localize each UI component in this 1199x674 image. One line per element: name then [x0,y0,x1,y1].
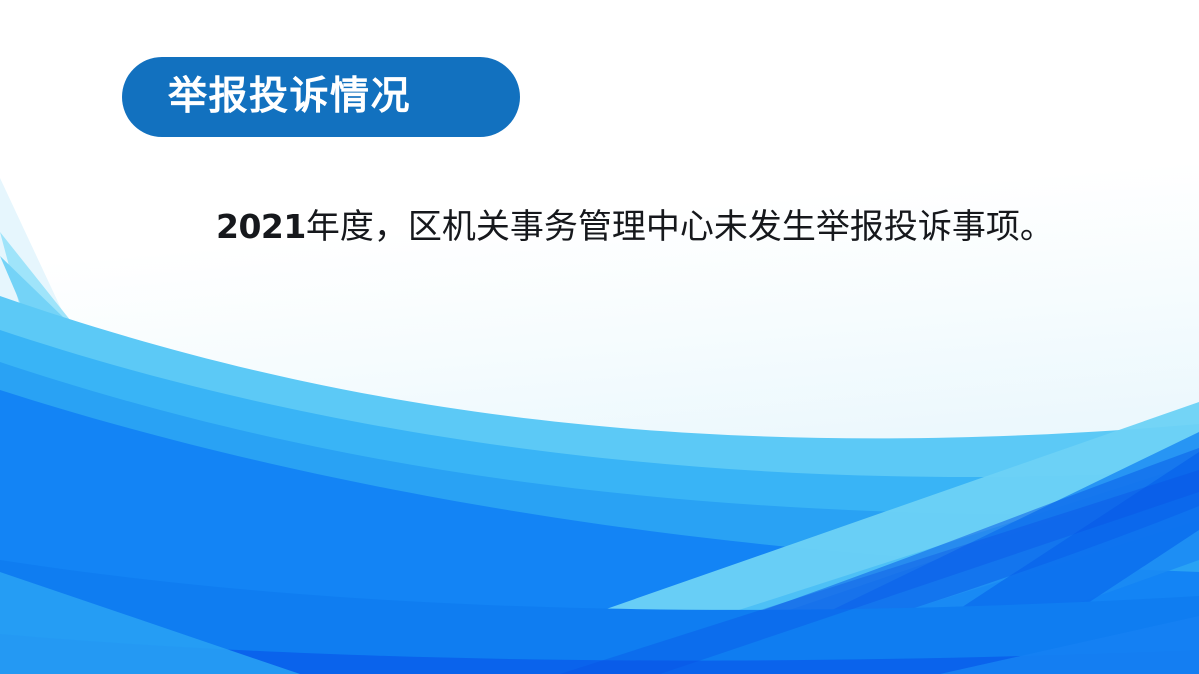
wave-bottom-left-accent [0,572,300,674]
wave-blue-base [0,634,1199,674]
wave-sky-lightest [0,232,352,674]
wave-blue-deep-diagonal [860,452,1199,674]
wave-blue-lower-sheet [0,560,1199,674]
wave-bottom-sliver [560,470,1199,674]
body-paragraph: 2021年度，区机关事务管理中心未发生举报投诉事项。 [216,203,1146,251]
wave-azure-main [0,362,1199,674]
wave-sky-wash [0,178,232,674]
slide-canvas: 举报投诉情况 2021年度，区机关事务管理中心未发生举报投诉事项。 [0,0,1199,674]
wave-blue-cross-right [700,432,1199,674]
body-sentence: 年度，区机关事务管理中心未发生举报投诉事项。 [306,207,1054,247]
wave-sky-light-left [0,256,432,674]
wave-blue-primary [0,390,1199,674]
wave-sky-band [0,296,1199,674]
wave-bottom-right-corner [940,616,1199,674]
wave-right-sky-ribbon-2 [540,462,1199,674]
page-title: 举报投诉情况 [168,57,488,137]
wave-right-sky-ribbon [420,402,1199,674]
wave-blue-deep-curve [560,448,1199,674]
wave-azure-light [0,330,1199,674]
body-year: 2021 [216,207,306,246]
